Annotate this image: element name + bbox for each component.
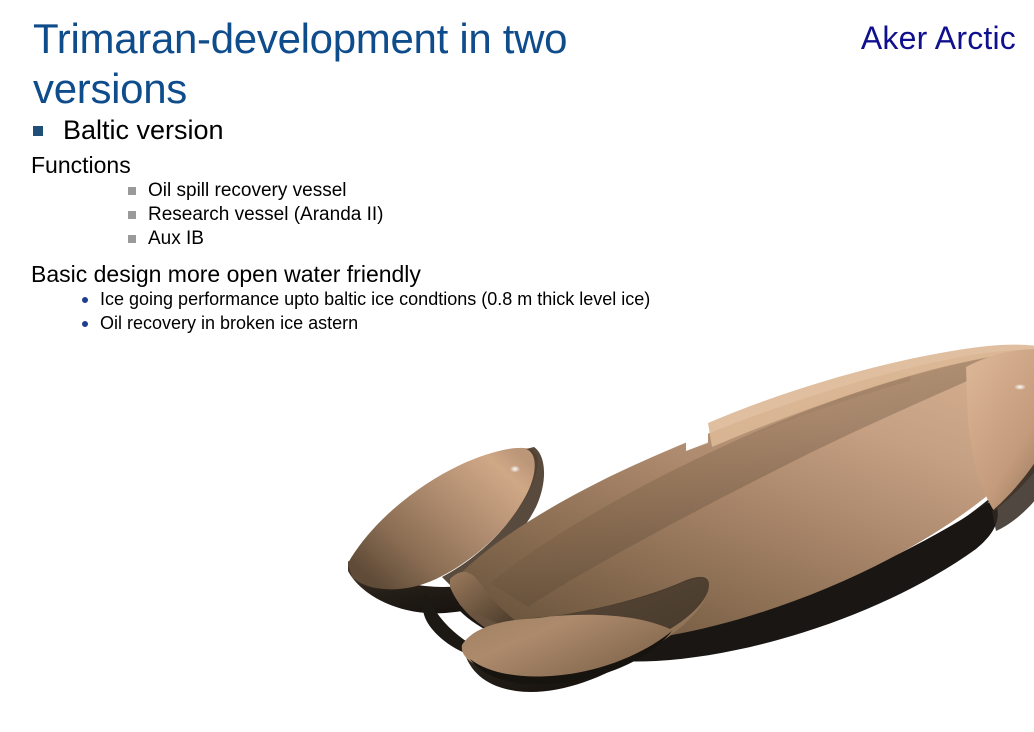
list-item-label: Ice going performance upto baltic ice co… <box>100 288 650 310</box>
dot-bullet-icon <box>82 321 88 327</box>
bullet-item-baltic-version: Baltic version <box>33 115 224 146</box>
list-item-label: Aux IB <box>148 227 204 250</box>
bullet-label-baltic-version: Baltic version <box>63 115 224 146</box>
square-bullet-icon <box>128 211 136 219</box>
brand-logo: Aker Arctic <box>861 20 1016 56</box>
trimaran-illustration <box>330 325 1034 695</box>
specular-highlight <box>510 466 520 473</box>
list-item-label: Oil spill recovery vessel <box>148 179 347 202</box>
list-item: Research vessel (Aranda II) <box>128 203 384 226</box>
list-item: Aux IB <box>128 227 384 250</box>
square-bullet-icon <box>33 126 43 136</box>
trimaran-hull-3d-render <box>330 325 1034 695</box>
functions-heading: Functions <box>31 152 131 179</box>
dot-bullet-icon <box>82 297 88 303</box>
presentation-slide: Trimaran-development in two versions Ake… <box>0 0 1034 732</box>
basic-design-heading: Basic design more open water friendly <box>31 261 421 288</box>
square-bullet-icon <box>128 187 136 195</box>
page-title: Trimaran-development in two versions <box>33 14 673 114</box>
specular-highlight <box>1014 384 1026 390</box>
list-item: Oil spill recovery vessel <box>128 179 384 202</box>
list-item-label: Oil recovery in broken ice astern <box>100 312 358 334</box>
functions-list: Oil spill recovery vessel Research vesse… <box>128 179 384 251</box>
list-item: Ice going performance upto baltic ice co… <box>82 288 650 310</box>
list-item-label: Research vessel (Aranda II) <box>148 203 384 226</box>
square-bullet-icon <box>128 235 136 243</box>
